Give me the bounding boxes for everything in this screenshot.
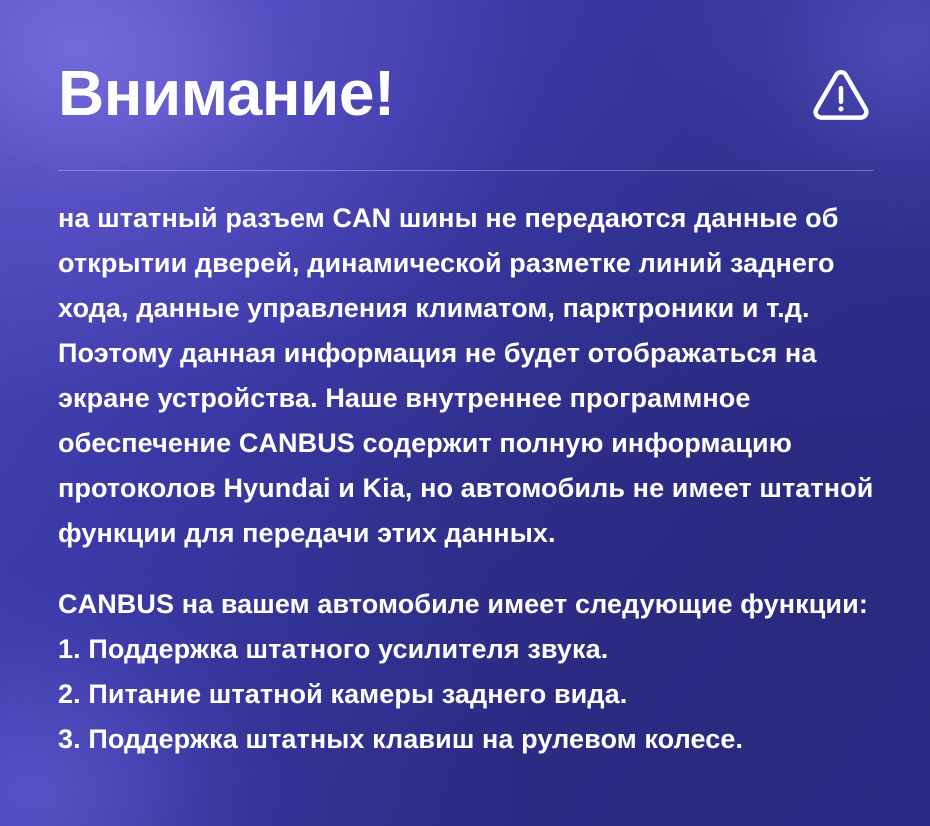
list-item: 3. Поддержка штатных клавиш на рулевом к… bbox=[58, 717, 882, 762]
header-divider bbox=[58, 170, 874, 171]
functions-intro: CANBUS на вашем автомобиле имеет следующ… bbox=[58, 582, 882, 627]
functions-list: 1. Поддержка штатного усилителя звука. 2… bbox=[58, 627, 882, 762]
warning-banner: Внимание! на штатный разъем CAN шины не … bbox=[0, 0, 930, 826]
main-paragraph: на штатный разъем CAN шины не передаются… bbox=[58, 196, 882, 556]
banner-header: Внимание! bbox=[58, 46, 874, 142]
list-item: 2. Питание штатной камеры заднего вида. bbox=[58, 672, 882, 717]
list-item: 1. Поддержка штатного усилителя звука. bbox=[58, 627, 882, 672]
warning-triangle-icon bbox=[810, 63, 872, 125]
banner-content: на штатный разъем CAN шины не передаются… bbox=[58, 196, 882, 762]
page-title: Внимание! bbox=[58, 61, 395, 126]
